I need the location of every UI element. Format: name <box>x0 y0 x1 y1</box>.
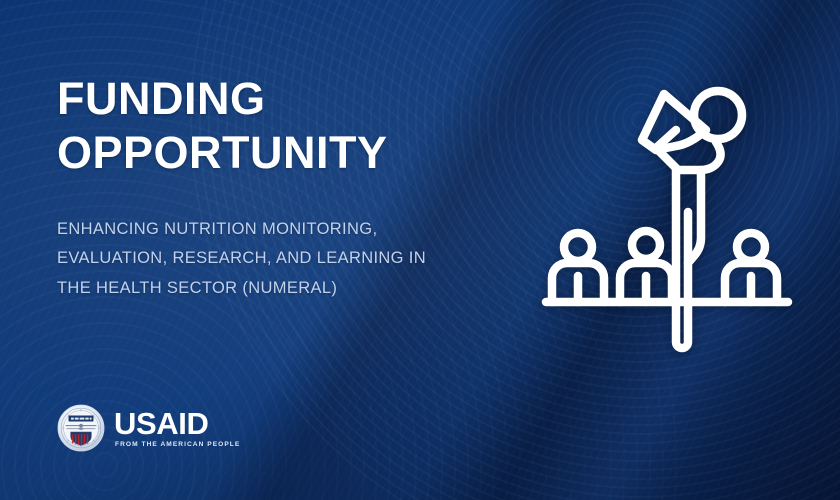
usaid-tagline: FROM THE AMERICAN PEOPLE <box>115 442 240 449</box>
audience-person-icon <box>620 231 672 302</box>
subtitle-line-3: THE HEALTH SECTOR (NUMERAL) <box>57 274 527 303</box>
banner-text-block: FUNDING OPPORTUNITY ENHANCING NUTRITION … <box>57 72 527 303</box>
speaker-figure-icon <box>642 91 742 348</box>
audience-person-icon <box>725 233 777 302</box>
subtitle-line-2: EVALUATION, RESEARCH, AND LEARNING IN <box>57 244 527 273</box>
megaphone-speaker-with-audience-illustration <box>538 62 816 362</box>
audience-person-icon <box>552 233 604 302</box>
usaid-seal-icon <box>57 404 105 452</box>
page-title: FUNDING OPPORTUNITY <box>57 72 527 181</box>
usaid-wordmark-text: USAID <box>114 408 240 439</box>
page-subtitle: ENHANCING NUTRITION MONITORING, EVALUATI… <box>57 215 527 303</box>
funding-opportunity-banner: FUNDING OPPORTUNITY ENHANCING NUTRITION … <box>0 0 840 500</box>
headline-line-1: FUNDING <box>57 72 527 126</box>
usaid-logo: USAID FROM THE AMERICAN PEOPLE <box>57 404 240 452</box>
subtitle-line-1: ENHANCING NUTRITION MONITORING, <box>57 215 527 244</box>
headline-line-2: OPPORTUNITY <box>57 126 527 180</box>
usaid-wordmark: USAID FROM THE AMERICAN PEOPLE <box>114 408 240 449</box>
